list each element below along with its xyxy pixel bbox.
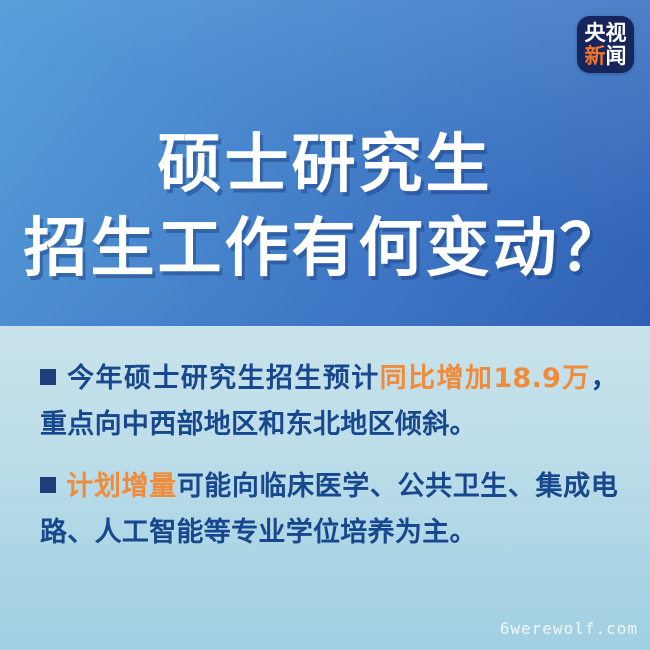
- hero-banner: 硕士研究生 招生工作有何变动？: [0, 0, 650, 326]
- cctv-news-logo: 央 视 新 闻: [577, 16, 634, 73]
- bullet-list: 今年硕士研究生招生预计同比增加18.9万，重点向中西部地区和东北地区倾斜。 计划…: [40, 356, 618, 572]
- logo-char-shi: 视: [606, 23, 627, 44]
- bullet-marker-icon: [40, 477, 56, 493]
- infographic-poster: 硕士研究生 招生工作有何变动？ 央 视 新 闻 今年硕士研究生招生预计同比增加1…: [0, 0, 650, 650]
- content-panel: 今年硕士研究生招生预计同比增加18.9万，重点向中西部地区和东北地区倾斜。 计划…: [0, 326, 650, 650]
- bullet-2-highlight: 计划增量: [66, 471, 177, 502]
- bullet-text-2: 计划增量可能向临床医学、公共卫生、集成电路、人工智能等专业学位培养为主。: [40, 464, 618, 556]
- headline-line-1: 硕士研究生: [0, 126, 650, 204]
- bullet-1-part-1: 今年硕士研究生招生预计: [66, 363, 380, 394]
- logo-char-xin: 新: [585, 46, 606, 67]
- bullet-1-highlight: 同比增加18.9万: [380, 363, 591, 394]
- logo-char-yang: 央: [585, 23, 606, 44]
- site-watermark: 6werewolf.com: [500, 619, 638, 638]
- logo-char-wen: 闻: [606, 46, 627, 67]
- logo-line-2: 新 闻: [585, 46, 627, 67]
- headline-block: 硕士研究生 招生工作有何变动？: [0, 126, 650, 288]
- logo-line-1: 央 视: [585, 23, 627, 44]
- bullet-item: 计划增量可能向临床医学、公共卫生、集成电路、人工智能等专业学位培养为主。: [40, 464, 618, 556]
- bullet-text-1: 今年硕士研究生招生预计同比增加18.9万，重点向中西部地区和东北地区倾斜。: [40, 356, 618, 448]
- bullet-marker-icon: [40, 369, 56, 385]
- bullet-item: 今年硕士研究生招生预计同比增加18.9万，重点向中西部地区和东北地区倾斜。: [40, 356, 618, 448]
- headline-line-2: 招生工作有何变动？: [0, 210, 650, 288]
